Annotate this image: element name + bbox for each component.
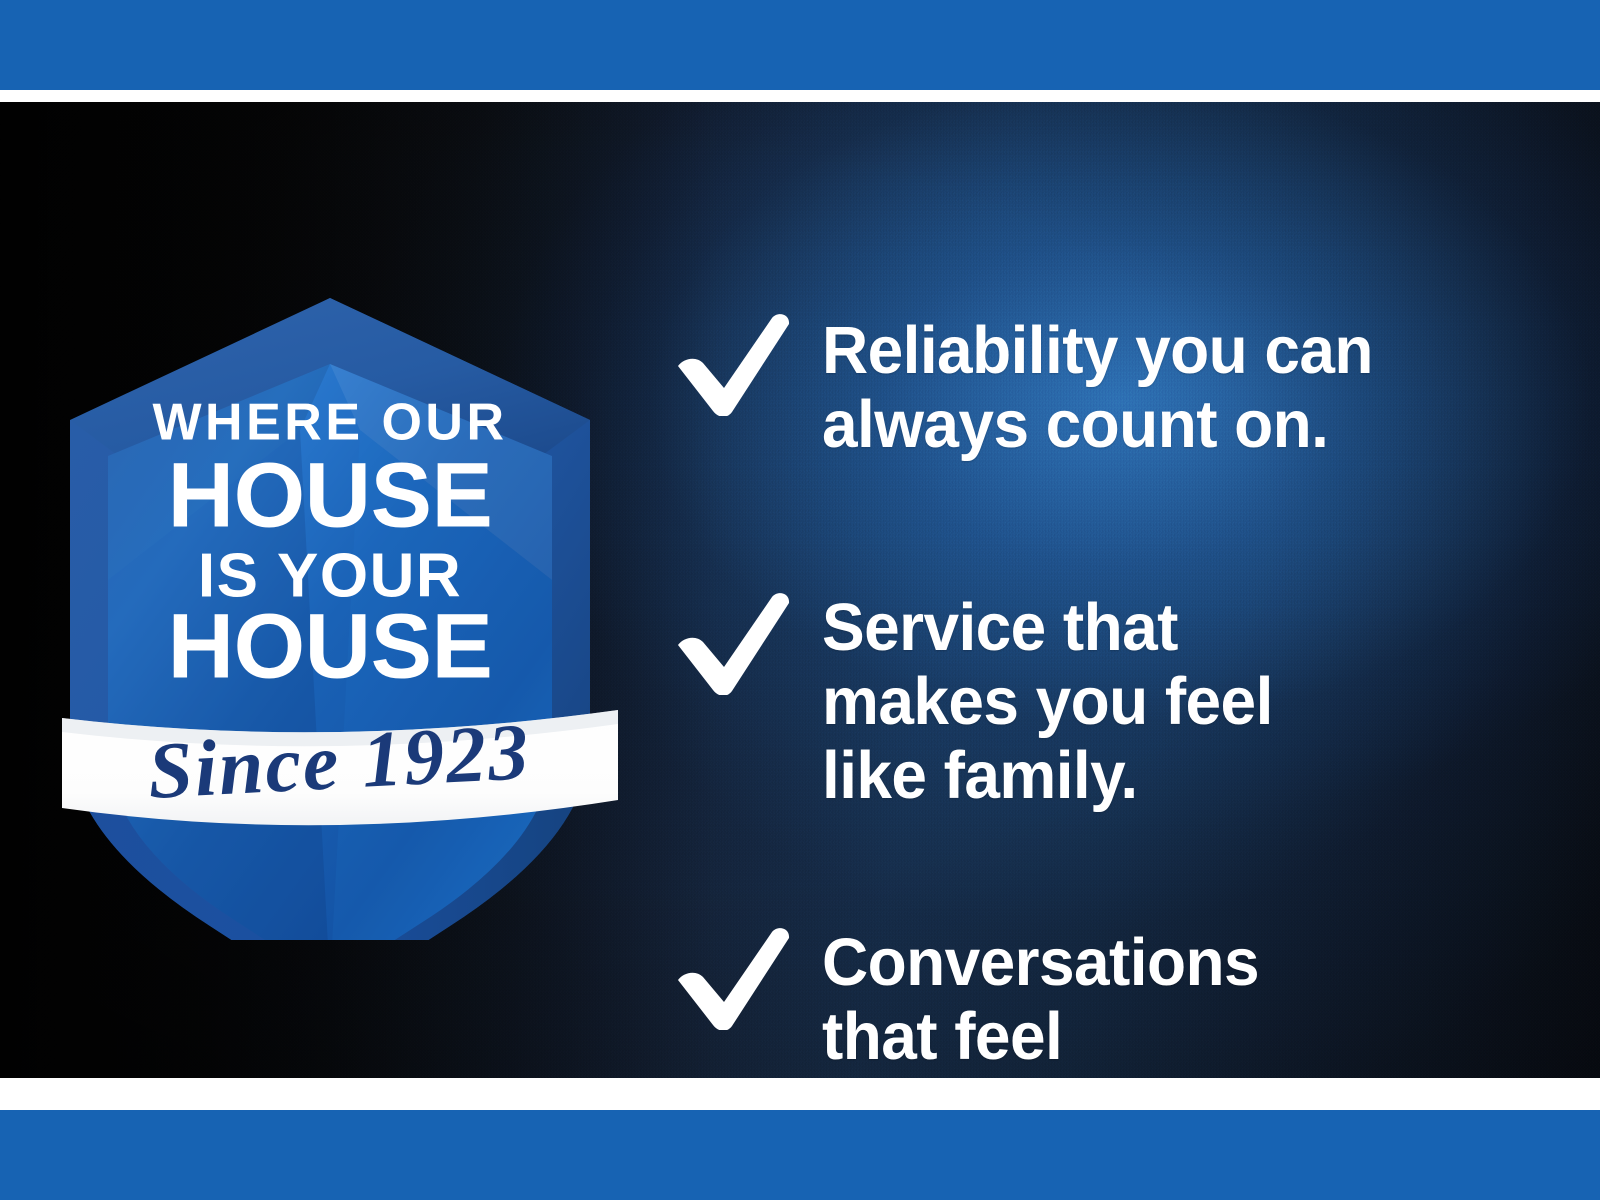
check-icon: [672, 922, 822, 1030]
shield-line-2: HOUSE: [168, 444, 493, 546]
list-item: Conversations that feel like home.: [672, 922, 1522, 1078]
list-item-text: Conversations that feel like home.: [822, 922, 1259, 1078]
promo-graphic: WHERE OUR HOUSE IS YOUR HOUSE Since 1923: [0, 0, 1600, 1200]
check-icon: [672, 587, 822, 695]
shield-line-4: HOUSE: [168, 595, 493, 697]
shield-text-block: WHERE OUR HOUSE IS YOUR HOUSE: [152, 394, 507, 698]
list-item-text: Service that makes you feel like family.: [822, 587, 1273, 812]
benefits-list: Reliability you can always count on. Ser…: [672, 308, 1522, 1078]
main-panel: WHERE OUR HOUSE IS YOUR HOUSE Since 1923: [0, 102, 1600, 1078]
shield-logo-svg: WHERE OUR HOUSE IS YOUR HOUSE Since 1923: [60, 280, 620, 940]
list-item: Service that makes you feel like family.: [672, 587, 1522, 812]
shield-line-1: WHERE OUR: [152, 394, 507, 452]
bottom-brand-bar: [0, 1110, 1600, 1200]
list-item-text: Reliability you can always count on.: [822, 308, 1373, 461]
check-icon: [672, 308, 822, 416]
list-item: Reliability you can always count on.: [672, 308, 1522, 461]
top-brand-bar: [0, 0, 1600, 90]
shield-logo: WHERE OUR HOUSE IS YOUR HOUSE Since 1923: [60, 280, 620, 940]
